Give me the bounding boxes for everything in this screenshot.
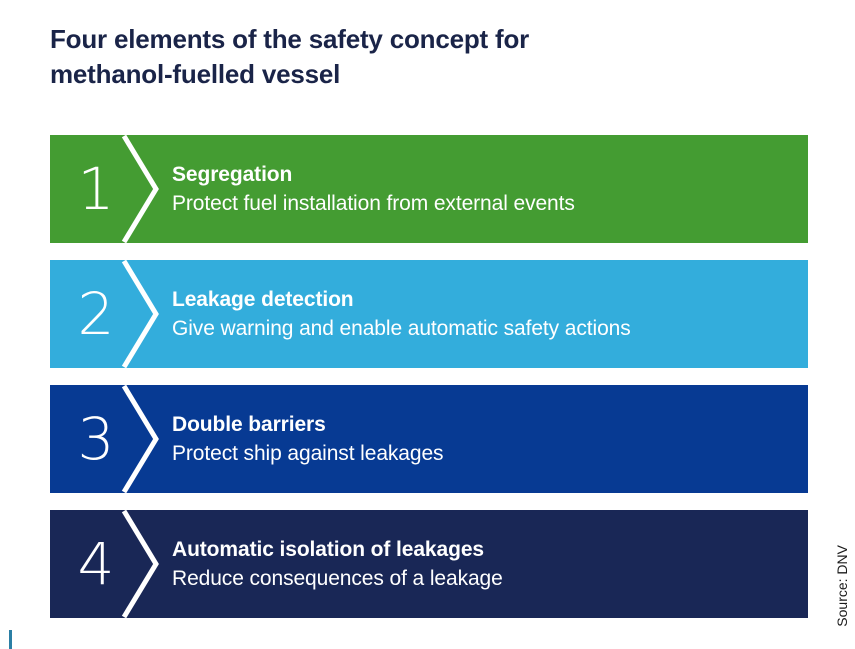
element-subtitle-1: Protect fuel installation from external … [172,190,796,217]
element-subtitle-3: Protect ship against leakages [172,440,796,467]
element-text-3: Double barriers Protect ship against lea… [172,385,796,493]
element-number-3: 3 [50,385,142,493]
element-band-3: 3 Double barriers Protect ship against l… [50,385,808,493]
element-number-2: 2 [50,260,142,368]
element-heading-4: Automatic isolation of leakages [172,536,796,563]
source-credit: Source: DNV [835,545,849,627]
element-subtitle-4: Reduce consequences of a leakage [172,565,796,592]
element-number-1: 1 [50,135,142,243]
element-text-2: Leakage detection Give warning and enabl… [172,260,796,368]
element-text-4: Automatic isolation of leakages Reduce c… [172,510,796,618]
element-heading-1: Segregation [172,161,796,188]
element-heading-2: Leakage detection [172,286,796,313]
element-text-1: Segregation Protect fuel installation fr… [172,135,796,243]
element-subtitle-2: Give warning and enable automatic safety… [172,315,796,342]
element-band-2: 2 Leakage detection Give warning and ena… [50,260,808,368]
infographic-page: Four elements of the safety concept for … [0,0,855,649]
corner-tick-mark [9,630,12,649]
element-heading-3: Double barriers [172,411,796,438]
elements-list: 1 Segregation Protect fuel installation … [50,135,808,618]
element-band-1: 1 Segregation Protect fuel installation … [50,135,808,243]
page-title: Four elements of the safety concept for … [50,22,690,91]
element-band-4: 4 Automatic isolation of leakages Reduce… [50,510,808,618]
element-number-4: 4 [50,510,142,618]
